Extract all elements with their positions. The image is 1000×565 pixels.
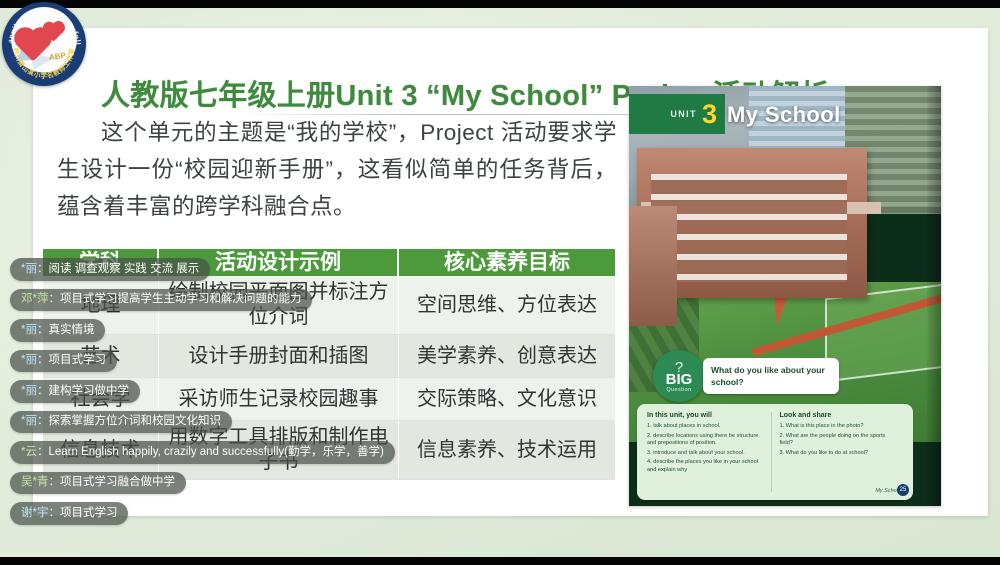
- chat-message: *丽：阅读 调查观察 实践 交流 展示: [10, 258, 210, 281]
- page-edge-shadow: [927, 86, 941, 506]
- look-and-share-heading: Look and share: [780, 412, 898, 419]
- objective-item: 1. talk about places in school.: [647, 423, 765, 431]
- chat-user: 谢*宇: [21, 507, 48, 519]
- objective-item: 4. describe the places you like in your …: [647, 459, 765, 474]
- chat-text: 项目式学习: [48, 354, 106, 366]
- share-question: 1. What is this place in the photo?: [780, 423, 898, 431]
- chat-message-row: *丽：探索掌握方位介词和校园文化知识: [10, 411, 650, 442]
- chat-message: *丽：探索掌握方位介词和校园文化知识: [10, 411, 232, 434]
- unit-word: UNIT: [670, 109, 697, 119]
- unit-title: My School: [727, 102, 841, 128]
- chat-user: *丽: [21, 324, 37, 336]
- unit-badge: UNIT 3: [629, 94, 725, 134]
- unit-number: 3: [702, 101, 717, 128]
- chat-separator: ：: [37, 385, 49, 397]
- chat-text: 项目式学习提高学生主动学习和解决问题的能力: [60, 293, 302, 305]
- chat-separator: ：: [37, 446, 49, 458]
- letterbox-bottom: [0, 557, 1000, 565]
- chat-text: 项目式学习: [60, 507, 118, 519]
- chat-user: *丽: [21, 354, 37, 366]
- chat-message-row: *丽：项目式学习: [10, 350, 650, 381]
- chat-text: 建构学习做中学: [48, 385, 129, 397]
- chat-text: 探索掌握方位介词和校园文化知识: [48, 415, 221, 427]
- chat-text: Learn English happily, crazily and succe…: [48, 446, 383, 458]
- chat-separator: ：: [48, 507, 60, 519]
- chat-message-row: *丽：建构学习做中学: [10, 380, 650, 411]
- question-mark-icon: ?: [675, 363, 683, 373]
- chat-message: 邓*萍：项目式学习提高学生主动学习和解决问题的能力: [10, 289, 312, 312]
- chat-separator: ：: [37, 263, 49, 275]
- objectives-column: In this unit, you will 1. talk about pla…: [647, 412, 771, 492]
- chat-text: 真实情境: [48, 324, 94, 336]
- chat-user: 吴*青: [21, 476, 48, 488]
- chat-message: 吴*青：项目式学习融合做中学: [10, 472, 186, 495]
- chat-message-row: 吴*青：项目式学习融合做中学: [10, 472, 650, 503]
- chat-message: *丽：真实情境: [10, 319, 105, 342]
- chat-message: *丽：项目式学习: [10, 350, 117, 373]
- unit-objectives-panel: In this unit, you will 1. talk about pla…: [637, 404, 913, 500]
- chat-message-row: *丽：真实情境: [10, 319, 650, 350]
- big-question-badge: ? BIG Question: [653, 350, 705, 402]
- chat-message-row: 邓*萍：项目式学习提高学生主动学习和解决问题的能力: [10, 289, 650, 320]
- chat-user: 邓*萍: [21, 293, 48, 305]
- chat-message-row: *云：Learn English happily, crazily and su…: [10, 441, 650, 472]
- intro-paragraph: 这个单元的主题是“我的学校”，Project 活动要求学生设计一份“校园迎新手册…: [57, 114, 617, 225]
- chat-user: *丽: [21, 385, 37, 397]
- chat-message-row: *丽：阅读 调查观察 实践 交流 展示: [10, 258, 650, 289]
- chat-separator: ：: [37, 415, 49, 427]
- chat-message-row: 谢*宇：项目式学习: [10, 502, 650, 533]
- chat-user: *云: [21, 446, 37, 458]
- chat-message: *丽：建构学习做中学: [10, 380, 140, 403]
- chat-separator: ：: [48, 476, 60, 488]
- chat-overlay: *丽：阅读 调查观察 实践 交流 展示 邓*萍：项目式学习提高学生主动学习和解决…: [10, 258, 650, 533]
- building-windows: [651, 174, 847, 282]
- chat-user: *丽: [21, 263, 37, 275]
- chat-text: 阅读 调查观察 实践 交流 展示: [48, 263, 199, 275]
- share-question: 2. What are the people doing on the spor…: [780, 433, 898, 448]
- big-question-bubble: What do you like about your school?: [703, 358, 839, 394]
- page-number-badge: 25: [897, 484, 909, 496]
- studio-logo: Happily Crazily Successfully 杭州萧山某小学名教师工…: [2, 2, 86, 86]
- chat-separator: ：: [48, 293, 60, 305]
- question-label: Question: [666, 387, 691, 393]
- share-question: 3. What do you like to do at school?: [780, 450, 898, 458]
- chat-separator: ：: [37, 324, 49, 336]
- chat-separator: ：: [37, 354, 49, 366]
- chat-message: *云：Learn English happily, crazily and su…: [10, 441, 395, 464]
- objective-item: 2. describe locations using there be str…: [647, 433, 765, 448]
- objectives-heading: In this unit, you will: [647, 412, 765, 419]
- screen-capture-frame: 人教版七年级上册Unit 3 “My School” Project活动解析 这…: [0, 0, 1000, 565]
- chat-user: *丽: [21, 415, 37, 427]
- chat-text: 项目式学习融合做中学: [60, 476, 175, 488]
- chat-message: 谢*宇：项目式学习: [10, 502, 128, 525]
- textbook-page-image: UNIT 3 My School ? BIG Question What do …: [629, 86, 941, 506]
- look-and-share-column: Look and share 1. What is this place in …: [771, 412, 904, 492]
- objective-item: 3. introduce and talk about your school.: [647, 450, 765, 458]
